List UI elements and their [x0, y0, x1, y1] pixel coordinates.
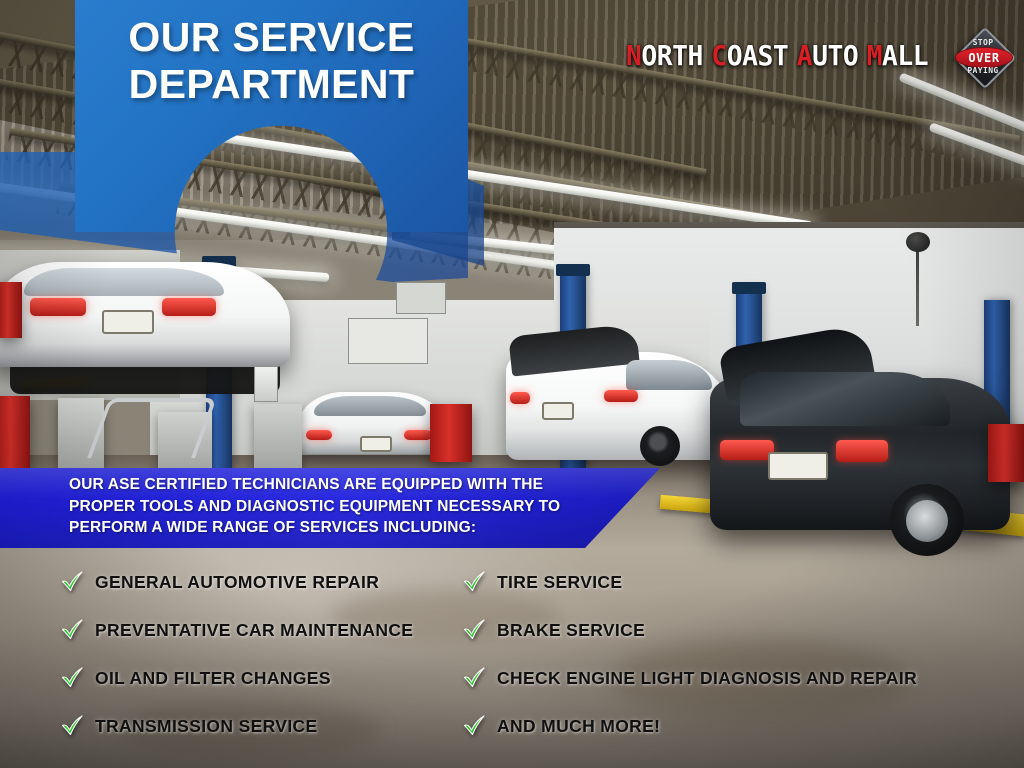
wall-panel — [348, 318, 428, 364]
tool-chest — [430, 404, 472, 462]
service-item: PREVENTATIVE CAR MAINTENANCE — [60, 606, 413, 654]
stair-railing — [87, 398, 217, 458]
vehicle-dark-sedan — [710, 378, 1010, 530]
service-item: CHECK ENGINE LIGHT DIAGNOSIS AND REPAIR — [462, 654, 917, 702]
wall-panel — [396, 282, 446, 314]
page-title-line1: OUR SERVICE — [75, 14, 468, 61]
service-label: CHECK ENGINE LIGHT DIAGNOSIS AND REPAIR — [497, 668, 917, 689]
brand-initial-m: M — [866, 39, 881, 72]
tail-light — [30, 298, 86, 316]
checkmark-icon — [60, 666, 84, 690]
tail-light — [720, 440, 774, 460]
checkmark-icon — [462, 618, 486, 642]
intro-line-3: PERFORM A WIDE RANGE OF SERVICES INCLUDI… — [69, 517, 629, 539]
checkmark-icon — [462, 714, 486, 738]
hose-reel — [906, 232, 930, 252]
wheel — [640, 426, 680, 466]
license-plate — [768, 452, 828, 480]
license-plate — [542, 402, 574, 420]
brand-initial-a: A — [796, 39, 811, 72]
lift-post-cap — [556, 264, 590, 276]
checkmark-icon — [60, 570, 84, 594]
intro-banner-text: OUR ASE CERTIFIED TECHNICIANS ARE EQUIPP… — [69, 474, 629, 539]
rear-window — [740, 372, 950, 426]
service-label: TIRE SERVICE — [497, 572, 622, 593]
badge-top-text: STOP — [954, 38, 1012, 47]
service-label: OIL AND FILTER CHANGES — [95, 668, 331, 689]
vehicle-white-suv — [506, 352, 732, 460]
service-label: BRAKE SERVICE — [497, 620, 645, 641]
page-title-line2: DEPARTMENT — [75, 61, 468, 108]
brand-rest-mall: ALL — [882, 39, 928, 72]
hanging-cord — [916, 248, 919, 326]
service-item: GENERAL AUTOMOTIVE REPAIR — [60, 558, 413, 606]
rear-window — [24, 268, 224, 296]
wall-panel — [254, 366, 278, 402]
tool-chest — [0, 396, 30, 474]
tail-light — [604, 390, 638, 402]
badge-oval-shape: OVER — [955, 47, 1013, 68]
service-item: TIRE SERVICE — [462, 558, 917, 606]
checkmark-icon — [462, 570, 486, 594]
wheel-rim — [906, 500, 948, 542]
badge-middle-text: OVER — [968, 51, 999, 65]
vehicle-white-sedan-lifted — [0, 262, 290, 367]
license-plate — [360, 436, 392, 452]
tool-chest — [988, 424, 1024, 482]
brand-rest-auto: UTO — [812, 39, 858, 72]
service-department-flyer: OUR SERVICE DEPARTMENT NORTHCOASTAUTOMAL… — [0, 0, 1024, 768]
checkmark-icon — [462, 666, 486, 690]
services-list-left: GENERAL AUTOMOTIVE REPAIR PREVENTATIVE C… — [60, 558, 413, 750]
service-label: GENERAL AUTOMOTIVE REPAIR — [95, 572, 379, 593]
tail-light — [306, 430, 332, 440]
service-item: OIL AND FILTER CHANGES — [60, 654, 413, 702]
tail-light — [510, 392, 530, 404]
service-item: TRANSMISSION SERVICE — [60, 702, 413, 750]
services-list-right: TIRE SERVICE BRAKE SERVICE CHECK ENGINE … — [462, 558, 917, 750]
lift-post-cap — [732, 282, 766, 294]
intro-line-2: PROPER TOOLS AND DIAGNOSTIC EQUIPMENT NE… — [69, 496, 629, 518]
service-item: BRAKE SERVICE — [462, 606, 917, 654]
intro-line-1: OUR ASE CERTIFIED TECHNICIANS ARE EQUIPP… — [69, 474, 629, 496]
storage-cabinet — [254, 404, 302, 472]
page-title: OUR SERVICE DEPARTMENT — [75, 14, 468, 107]
checkmark-icon — [60, 618, 84, 642]
license-plate — [102, 310, 154, 334]
rear-window — [314, 396, 426, 416]
badge-bottom-text: PAYING — [954, 66, 1012, 75]
brand-wordmark: NORTHCOASTAUTOMALL — [626, 42, 928, 70]
vehicle-white-sedan — [298, 392, 446, 454]
checkmark-icon — [60, 714, 84, 738]
brand-initial-n: N — [626, 39, 641, 72]
brand-rest-north: ORTH — [641, 39, 703, 72]
brand-initial-c: C — [711, 39, 726, 72]
service-item: AND MUCH MORE! — [462, 702, 917, 750]
tail-light — [162, 298, 216, 316]
brand-rest-coast: OAST — [726, 39, 788, 72]
tail-light — [836, 440, 888, 462]
service-label: PREVENTATIVE CAR MAINTENANCE — [95, 620, 413, 641]
tail-light — [404, 430, 432, 440]
service-label: AND MUCH MORE! — [497, 716, 660, 737]
service-label: TRANSMISSION SERVICE — [95, 716, 318, 737]
tool-chest — [0, 282, 22, 338]
stop-over-paying-badge: STOP OVER PAYING — [954, 27, 1012, 85]
brand-logo[interactable]: NORTHCOASTAUTOMALL STOP OVER PAYING — [626, 27, 1012, 85]
